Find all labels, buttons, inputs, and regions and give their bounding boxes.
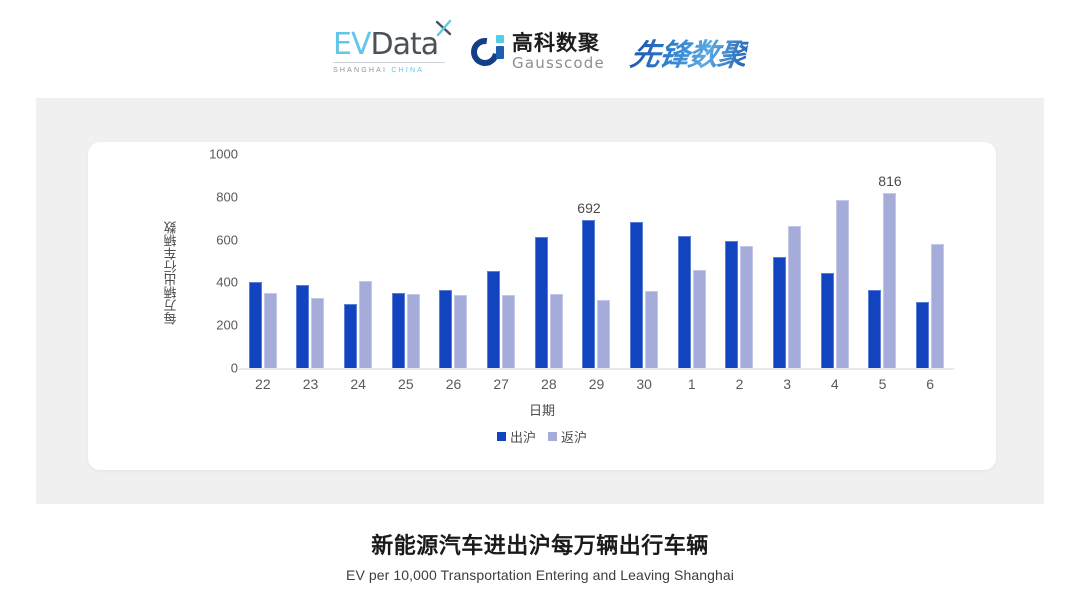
bar-group — [668, 154, 716, 368]
bar-chuhu[interactable] — [773, 257, 786, 368]
bar-fanhu[interactable] — [550, 294, 563, 368]
x-tick-label: 2 — [736, 376, 744, 392]
bar-group — [716, 154, 764, 368]
logo-bar: EV Data SHANGHAI CHINA — [0, 22, 1080, 82]
bar-fanhu[interactable] — [788, 226, 801, 368]
legend-label-fanhu: 返沪 — [561, 427, 587, 446]
x-tick-label: 27 — [493, 376, 509, 392]
gausscode-g-icon — [471, 35, 505, 69]
bar-chuhu[interactable] — [916, 302, 929, 368]
x-cross-icon — [435, 19, 453, 37]
legend-item-chuhu: 出沪 — [497, 427, 536, 446]
gausscode-cn-text: 高科数聚 — [512, 33, 605, 54]
x-tick-label: 26 — [446, 376, 462, 392]
bar-group — [906, 154, 954, 368]
bar-group — [382, 154, 430, 368]
y-tick-label: 200 — [192, 318, 238, 333]
evdata-ev-text: EV — [333, 30, 370, 60]
logo-evdata: EV Data SHANGHAI CHINA — [333, 30, 445, 74]
x-tick-label: 3 — [783, 376, 791, 392]
bar-fanhu[interactable] — [502, 295, 515, 368]
bar-group — [477, 154, 525, 368]
bar-fanhu[interactable] — [454, 295, 467, 368]
bar-group — [287, 154, 335, 368]
bar-fanhu[interactable] — [740, 246, 753, 368]
bar-chuhu[interactable]: 692 — [582, 220, 595, 368]
x-tick-label: 23 — [303, 376, 319, 392]
bar-group — [811, 154, 859, 368]
y-tick-label: 600 — [192, 232, 238, 247]
bar-group — [620, 154, 668, 368]
x-tick-label: 28 — [541, 376, 557, 392]
bar-chuhu[interactable] — [725, 241, 738, 368]
page-title: 新能源汽车进出沪每万辆出行车辆 — [0, 528, 1080, 560]
bar-chuhu[interactable] — [487, 271, 500, 368]
legend-swatch-icon — [497, 432, 506, 441]
x-tick-label: 25 — [398, 376, 414, 392]
bar-fanhu[interactable] — [264, 293, 277, 368]
bar-chuhu[interactable] — [868, 290, 881, 368]
y-axis-ticks: 02004006008001000 — [138, 142, 238, 470]
bar-fanhu[interactable] — [597, 300, 610, 368]
bar-fanhu[interactable] — [836, 200, 849, 368]
bar-group — [239, 154, 287, 368]
x-tick-label: 5 — [879, 376, 887, 392]
x-tick-label: 30 — [636, 376, 652, 392]
bar-chuhu[interactable] — [249, 282, 262, 368]
bar-group — [763, 154, 811, 368]
bar-group: 692 — [573, 154, 621, 368]
legend-swatch-icon — [548, 432, 557, 441]
bar-fanhu[interactable] — [359, 281, 372, 368]
bar-value-label: 816 — [878, 173, 901, 189]
y-tick-label: 0 — [192, 361, 238, 376]
logo-xianfeng: 先锋数聚 — [627, 30, 750, 74]
x-axis-baseline — [239, 368, 954, 370]
legend-label-chuhu: 出沪 — [510, 427, 536, 446]
evdata-tagline-city: SHANGHAI — [333, 67, 387, 74]
evdata-divider — [333, 62, 445, 63]
bar-group: 816 — [859, 154, 907, 368]
logo-gausscode: 高科数聚 Gausscode — [471, 33, 605, 71]
bar-chart: 每万辆出行车辆数 02004006008001000 692816 222324… — [88, 142, 996, 470]
footer: 新能源汽车进出沪每万辆出行车辆 EV per 10,000 Transporta… — [0, 528, 1080, 583]
evdata-data-text: Data — [371, 30, 439, 60]
bar-chuhu[interactable] — [344, 304, 357, 368]
bar-fanhu[interactable] — [311, 298, 324, 368]
gausscode-en-text: Gausscode — [512, 56, 605, 71]
evdata-wordmark: EV Data — [333, 30, 438, 60]
bar-group — [430, 154, 478, 368]
page-subtitle: EV per 10,000 Transportation Entering an… — [0, 567, 1080, 583]
bar-chuhu[interactable] — [296, 285, 309, 368]
bar-fanhu[interactable] — [931, 244, 944, 368]
evdata-tagline-country: CHINA — [391, 67, 424, 74]
bar-group — [525, 154, 573, 368]
y-tick-label: 800 — [192, 189, 238, 204]
legend-item-fanhu: 返沪 — [548, 427, 587, 446]
bar-fanhu[interactable]: 816 — [883, 193, 896, 368]
chart-legend: 出沪 返沪 — [88, 427, 996, 446]
bar-chuhu[interactable] — [678, 236, 691, 368]
slide-page: EV Data SHANGHAI CHINA — [0, 0, 1080, 608]
x-tick-label: 4 — [831, 376, 839, 392]
bar-fanhu[interactable] — [693, 270, 706, 368]
bar-chuhu[interactable] — [392, 293, 405, 368]
chart-card: 每万辆出行车辆数 02004006008001000 692816 222324… — [88, 142, 996, 470]
x-tick-label: 24 — [350, 376, 366, 392]
x-tick-label: 1 — [688, 376, 696, 392]
x-axis-title: 日期 — [88, 400, 996, 419]
x-tick-label: 22 — [255, 376, 271, 392]
bar-group — [334, 154, 382, 368]
y-tick-label: 400 — [192, 275, 238, 290]
plot-area: 692816 — [239, 154, 954, 368]
bar-fanhu[interactable] — [645, 291, 658, 368]
x-tick-label: 29 — [589, 376, 605, 392]
bar-value-label: 692 — [577, 200, 600, 216]
bar-chuhu[interactable] — [439, 290, 452, 368]
y-tick-label: 1000 — [192, 147, 238, 162]
evdata-tagline: SHANGHAI CHINA — [333, 67, 424, 74]
bar-chuhu[interactable] — [821, 273, 834, 368]
gausscode-wordmark: 高科数聚 Gausscode — [512, 33, 605, 71]
x-tick-label: 6 — [926, 376, 934, 392]
bar-chuhu[interactable] — [535, 237, 548, 368]
bar-fanhu[interactable] — [407, 294, 420, 368]
bar-chuhu[interactable] — [630, 222, 643, 368]
